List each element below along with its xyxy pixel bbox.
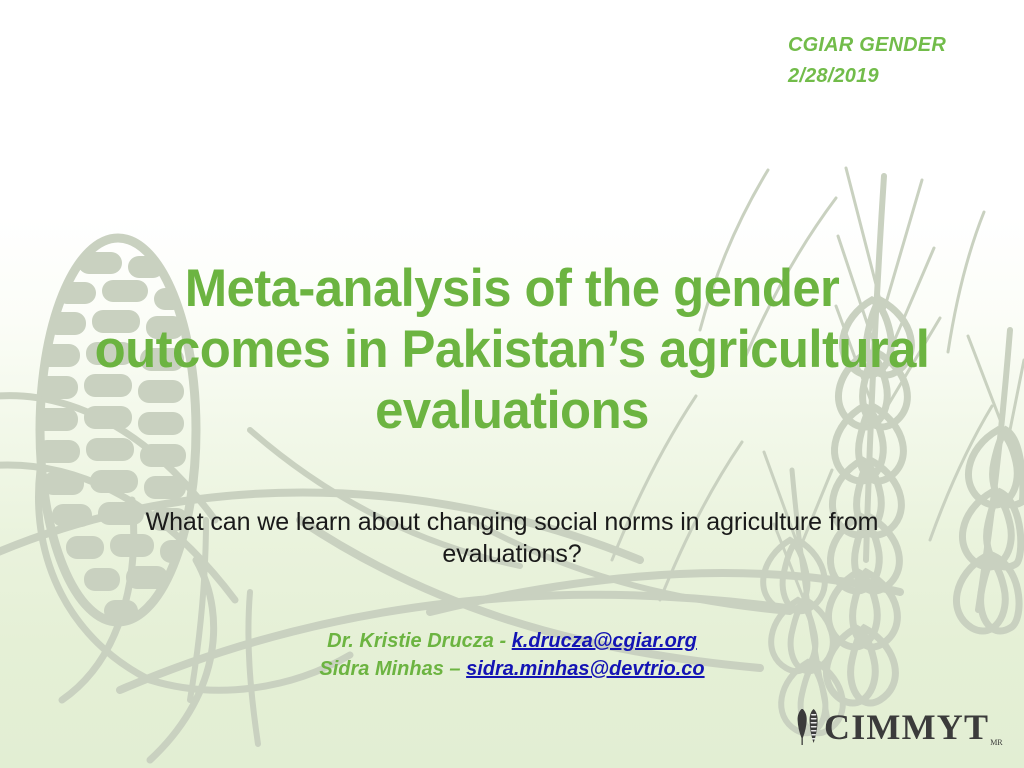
- author-name: Sidra Minhas: [319, 658, 443, 680]
- cimmyt-logo: CIMMYT MR: [795, 703, 990, 751]
- author-line: Dr. Kristie Drucza - k.drucza@cgiar.org: [130, 627, 894, 655]
- slide-header: CGIAR GENDER 2/28/2019: [788, 30, 1018, 92]
- author-line: Sidra Minhas – sidra.minhas@devtrio.co: [130, 655, 894, 683]
- author-separator: -: [494, 630, 512, 652]
- header-organization: CGIAR GENDER: [788, 30, 1018, 61]
- cimmyt-trademark: MR: [990, 738, 1002, 747]
- author-block: Dr. Kristie Drucza - k.drucza@cgiar.org …: [130, 627, 894, 683]
- header-date: 2/28/2019: [788, 61, 1018, 92]
- author-email-link[interactable]: k.drucza@cgiar.org: [512, 630, 697, 652]
- slide-title: Meta-analysis of the gender outcomes in …: [78, 258, 946, 441]
- author-separator: –: [444, 658, 466, 680]
- wheat-and-maize-mark: [795, 707, 821, 747]
- presentation-slide: CGIAR GENDER 2/28/2019 Meta-analysis of …: [0, 0, 1024, 768]
- cimmyt-wordmark: CIMMYT: [824, 709, 989, 745]
- author-email-link[interactable]: sidra.minhas@devtrio.co: [466, 658, 704, 680]
- slide-subtitle: What can we learn about changing social …: [130, 506, 894, 570]
- author-name: Dr. Kristie Drucza: [327, 630, 494, 652]
